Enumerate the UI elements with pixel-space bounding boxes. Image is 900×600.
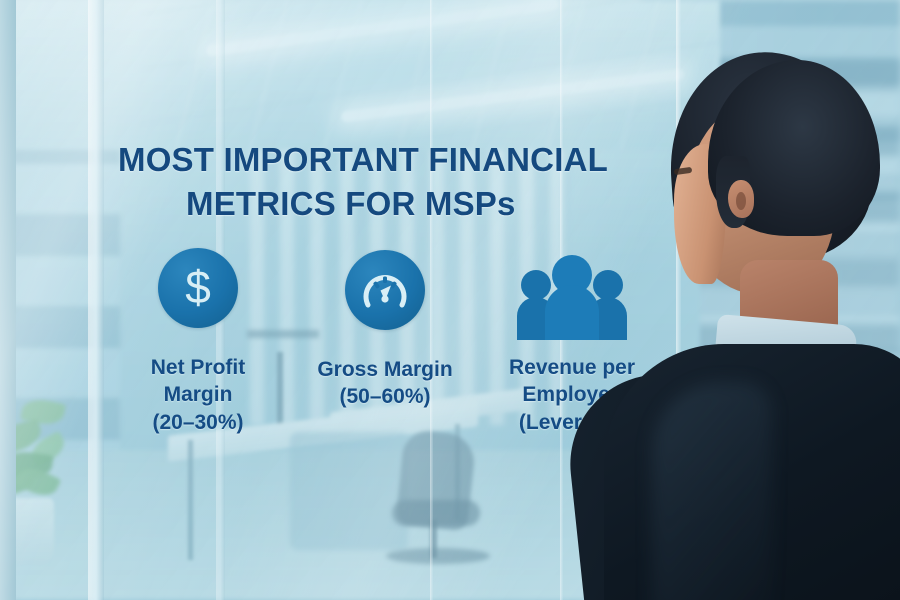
metric-icon-wrap: $ bbox=[158, 248, 238, 346]
metric-net-profit-margin: $ Net Profit Margin (20–30%) bbox=[112, 248, 284, 436]
metric-value-range: (20–30%) bbox=[151, 409, 246, 436]
businessman bbox=[612, 52, 900, 600]
metric-label-line-2: Margin bbox=[151, 381, 246, 408]
metric-gross-margin: Gross Margin (50–60%) bbox=[299, 250, 471, 411]
suit-highlight bbox=[652, 382, 772, 600]
metric-label-line-1: Gross Margin bbox=[317, 356, 452, 383]
dollar-sign-icon: $ bbox=[158, 248, 238, 328]
title-line-1: MOST IMPORTANT FINANCIAL bbox=[118, 141, 608, 178]
metric-icon-wrap bbox=[345, 250, 425, 348]
ear-canal bbox=[736, 192, 746, 210]
gauge-icon bbox=[345, 250, 425, 330]
svg-text:$: $ bbox=[185, 262, 211, 313]
title-line-2: METRICS FOR MSPs bbox=[118, 182, 638, 226]
page-title: MOST IMPORTANT FINANCIAL METRICS FOR MSP… bbox=[118, 138, 638, 225]
metric-label: Gross Margin (50–60%) bbox=[317, 356, 452, 411]
metric-value-range: (50–60%) bbox=[317, 383, 452, 410]
scene-root: MOST IMPORTANT FINANCIAL METRICS FOR MSP… bbox=[0, 0, 900, 600]
metrics-row: $ Net Profit Margin (20–30%) bbox=[112, 248, 658, 436]
metric-label: Net Profit Margin (20–30%) bbox=[151, 354, 246, 436]
metric-label-line-1: Net Profit bbox=[151, 354, 246, 381]
